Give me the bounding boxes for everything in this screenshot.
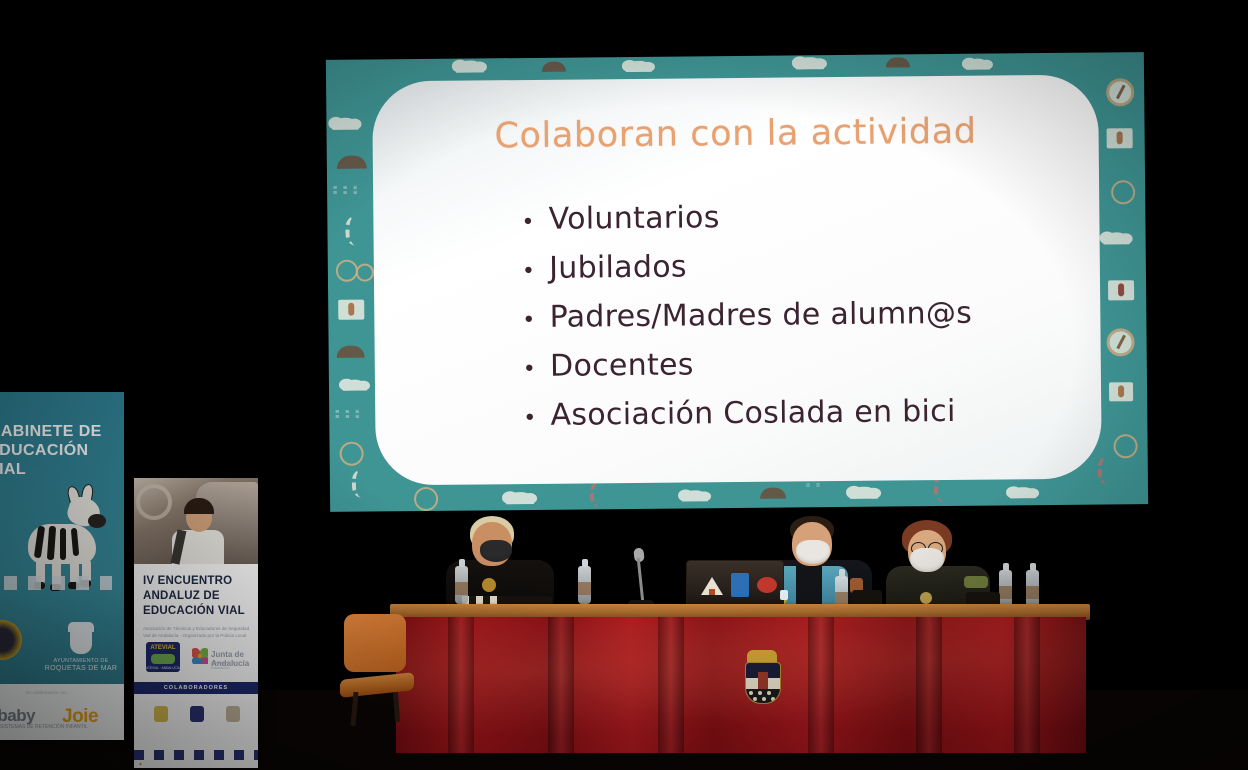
ayuntamiento-crest-icon (64, 622, 98, 656)
banner-right-title: IV ENCUENTRO ANDALUZ DE EDUCACIÓN VIAL (143, 574, 252, 619)
laptop (686, 560, 784, 610)
collaborators-label: COLABORADORES (134, 685, 258, 691)
banner-left-footer-note: En colaboración con (26, 690, 118, 695)
bullet-marker: • (523, 408, 536, 430)
bullet-text: Asociación Coslada en bici (550, 394, 955, 433)
police-checker-strip (134, 750, 258, 760)
collaborator-logo-ayuntamiento (184, 706, 210, 730)
list-item: • Asociación Coslada en bici (523, 393, 1061, 433)
water-bottle (455, 566, 468, 604)
rollup-banner-encuentro: IV ENCUENTRO ANDALUZ DE EDUCACIÓN VIAL A… (134, 478, 258, 768)
face-mask (480, 540, 512, 562)
banner-right-title-line1: IV ENCUENTRO (143, 574, 252, 589)
list-item: • Jubilados (522, 246, 1060, 286)
collaborator-logos (134, 700, 258, 744)
photo-scene: ≡ ≡ ≡ ≡ ≡ ≡ ≡ ≡ ≡ ≡ ≡ ≡ (0, 0, 1248, 770)
projection-screen: ≡ ≡ ≡ ≡ ≡ ≡ ≡ ≡ ≡ ≡ ≡ ≡ (326, 52, 1148, 512)
blue-sticker (731, 573, 749, 597)
banner-left-brand-joie: Joie (62, 706, 98, 728)
bullet-marker: • (521, 212, 534, 234)
red-circle-sticker (757, 577, 777, 593)
microphone (628, 556, 654, 610)
list-item: • Padres/Madres de alumn@s (522, 295, 1060, 335)
banner-left-crest-caption: AYUNTAMIENTO DE ROQUETAS DE MAR (44, 658, 118, 672)
face-mask (796, 540, 830, 564)
banner-left-footer: En colaboración con t baby SISTEMAS DE R… (0, 684, 124, 740)
badge-icon (482, 578, 496, 592)
slide-title: Colaboran con la actividad (372, 111, 1098, 158)
banner-right-title-line2: ANDALUZ DE (143, 589, 252, 604)
banner-left-title-line2: EDUCACIÓN VIAL (0, 441, 120, 479)
water-bottle (1026, 570, 1039, 608)
shield-icon (745, 662, 781, 704)
face-mask (910, 548, 944, 572)
rollup-banner-gabinete: GABINETE DE EDUCACIÓN VIAL (0, 392, 124, 740)
banner-right-photo (134, 478, 258, 564)
bullet-text: Voluntarios (549, 200, 720, 237)
atevial-logo-text: ATEVIAL (146, 645, 180, 651)
bullet-text: Jubilados (549, 249, 687, 285)
junta-logo-sub: Consejería de Educación (211, 660, 250, 670)
banner-right-corner-mark: ▲ (138, 761, 143, 767)
slide-content-panel: Colaboran con la actividad • Voluntarios… (372, 75, 1102, 486)
water-bottle (999, 570, 1012, 608)
banner-left-title: GABINETE DE EDUCACIÓN VIAL (0, 422, 120, 479)
badge-icon (920, 592, 932, 604)
water-bottle (578, 566, 591, 604)
collaborator-logo-dgt (148, 706, 174, 730)
banner-right-subtitle: Asociación de Técnicos y Educadores de S… (143, 626, 250, 639)
bullet-marker: • (523, 359, 536, 381)
junta-andalucia-logo: Junta de Andalucía Consejería de Educaci… (192, 646, 250, 668)
chair (340, 614, 418, 724)
slide-bullet-list: • Voluntarios • Jubilados • Padres/Madre… (521, 197, 1061, 447)
policia-local-seal (0, 620, 22, 660)
collaborator-logo-policia (220, 706, 246, 730)
bullet-text: Padres/Madres de alumn@s (549, 296, 972, 335)
collaborators-bar: COLABORADORES (134, 682, 258, 694)
municipal-coat-of-arms (741, 648, 783, 704)
list-item: • Docentes (523, 344, 1061, 384)
steering-wheel (136, 484, 172, 520)
atevial-logo: ATEVIAL ATEVIAL · ANDALUCÍA (146, 642, 180, 672)
warning-triangle-inner (709, 589, 715, 595)
andalucia-map-shape (151, 654, 175, 664)
bullet-marker: • (522, 310, 535, 332)
atevial-logo-sub: ATEVIAL · ANDALUCÍA (146, 666, 180, 670)
bullet-marker: • (522, 261, 535, 283)
banner-left-title-line1: GABINETE DE (0, 422, 120, 441)
junta-flower-icon (192, 648, 208, 664)
banner-left-brand-baby: t baby (0, 706, 35, 726)
list-item: • Voluntarios (521, 197, 1059, 237)
crosswalk-stripes (4, 576, 112, 590)
bullet-text: Docentes (550, 347, 694, 383)
banner-left-logos: AYUNTAMIENTO DE ROQUETAS DE MAR (0, 620, 124, 678)
banner-right-title-line3: EDUCACIÓN VIAL (143, 604, 252, 619)
shoulder-patch (964, 576, 988, 588)
